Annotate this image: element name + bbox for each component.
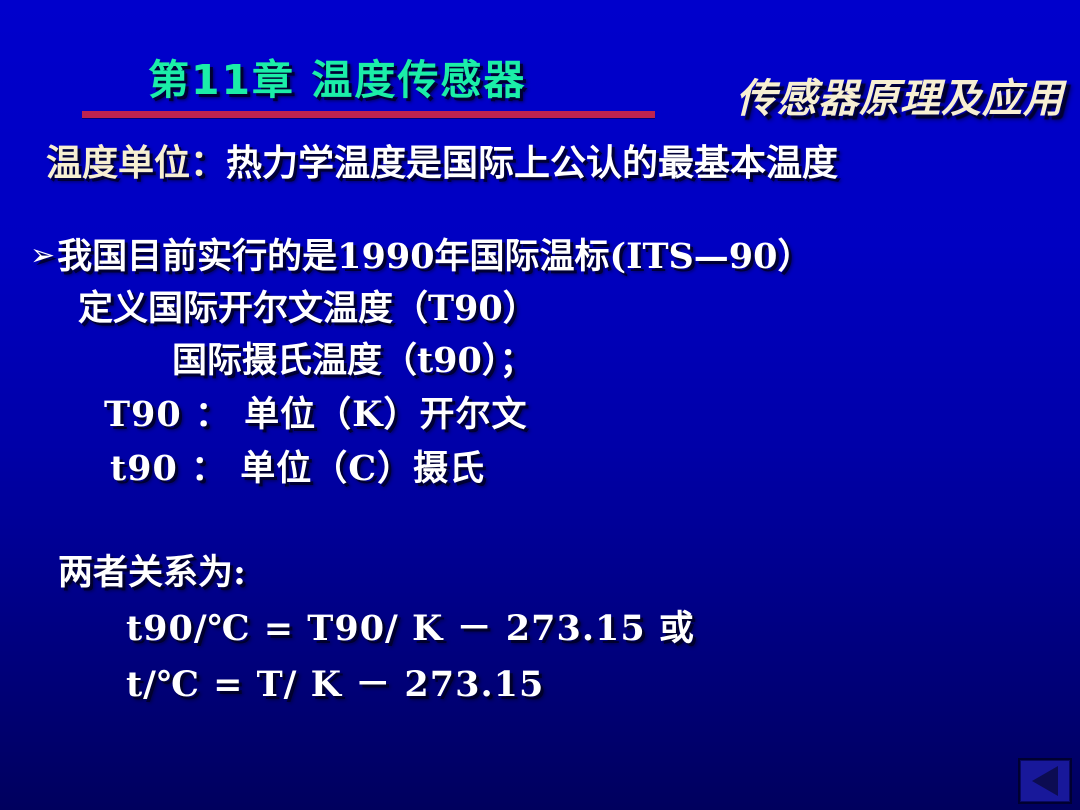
relation-formula-1: t90/℃ = T90/ K － 273.15 或 [126,600,695,651]
triangle-left-icon [1032,766,1058,796]
header-divider-rule [82,111,655,118]
subtitle-line: 温度单位：热力学温度是国际上公认的最基本温度 [46,134,838,186]
course-title: 传感器原理及应用 [736,66,1064,124]
body-line-4: T90 ： 单位（K）开尔文 [104,386,528,437]
body-line-5: t90 ： 单位（C）摄氏 [110,440,485,491]
slide-header: 第11章 温度传感器 传感器原理及应用 [0,0,1080,128]
body-line-3: 国际摄氏温度（t90）； [172,332,534,383]
relation-formula-2: t/℃ = T/ K － 273.15 [126,656,544,707]
body-line-2: 定义国际开尔文温度（T90） [78,280,538,331]
relation-heading: 两者关系为: [58,544,246,595]
subtitle-label: 温度单位： [46,143,226,184]
slide-canvas: 第11章 温度传感器 传感器原理及应用 温度单位：热力学温度是国际上公认的最基本… [0,0,1080,810]
subtitle-value: 热力学温度是国际上公认的最基本温度 [226,143,838,184]
previous-slide-button[interactable] [1018,758,1072,804]
chapter-title: 第11章 温度传感器 [148,46,526,106]
body-line-1: ➢我国目前实行的是1990年国际温标(ITS—90） [30,228,813,279]
body-line-1-text: 我国目前实行的是1990年国际温标(ITS—90） [57,236,812,277]
triangle-bullet-icon: ➢ [30,238,55,273]
